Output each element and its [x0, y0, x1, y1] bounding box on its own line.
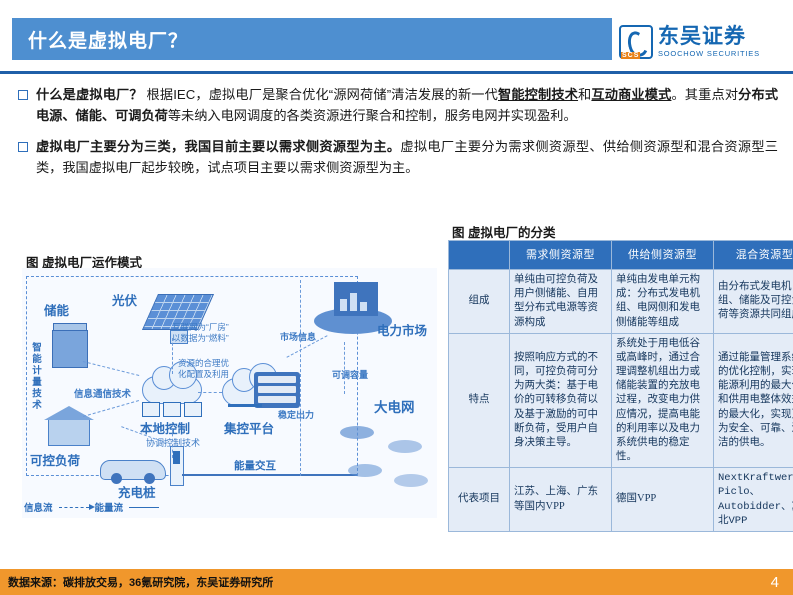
- bullet-item: 虚拟电厂主要分为三类，我国目前主要以需求侧资源型为主。虚拟电厂主要分为需求侧资源…: [18, 136, 778, 179]
- storage-battery-icon: [52, 330, 88, 368]
- label-stable-output: 稳定出力: [278, 408, 314, 421]
- table-row: 组成 单纯由可控负荷及用户侧储能、自用型分布式电源等资源构成 单纯由发电单元构成…: [449, 270, 793, 334]
- diagram-legend: 信息流 能量流: [24, 500, 159, 514]
- flow-line: [198, 392, 222, 393]
- cell-projects-supply: 德国VPP: [612, 468, 714, 532]
- market-chart-icon: [334, 282, 378, 316]
- label-storage: 储能: [44, 300, 69, 319]
- table-header-row: 需求侧资源型 供给侧资源型 混合资源型: [449, 241, 793, 270]
- local-servers-icon: [142, 402, 202, 417]
- table-col-empty: [449, 241, 510, 270]
- legend-info-flow-label: 信息流: [24, 500, 53, 514]
- label-power-market: 电力市场: [377, 320, 427, 339]
- grid-node-icon: [394, 474, 428, 487]
- label-adjustable-capacity: 可调容量: [332, 368, 368, 381]
- company-logo: SCS 东吴证券 SOOCHOW SECURITIES: [619, 22, 779, 62]
- label-local-control: 本地控制: [140, 418, 190, 437]
- grid-node-icon: [388, 440, 422, 453]
- cell-projects-demand: 江苏、上海、广东等国内VPP: [510, 468, 612, 532]
- row-header-features: 特点: [449, 333, 510, 468]
- cell-features-demand: 按照响应方式的不同，可控负荷可分为两大类：基于电价的可转移负荷以及基于激励的可中…: [510, 333, 612, 468]
- bullet-seg: 智能控制技术: [498, 87, 578, 102]
- table-col-supply-side: 供给侧资源型: [612, 241, 714, 270]
- bullet-square-icon: [18, 90, 28, 100]
- boundary-flow-line: [300, 280, 301, 476]
- bullet-seg: 和: [578, 87, 591, 102]
- label-controllable-load: 可控负荷: [30, 450, 80, 469]
- cell-composition-supply: 单纯由发电单元构成：分布式发电机组、电网侧和发电侧储能等组成: [612, 270, 714, 334]
- page-title: 什么是虚拟电厂？: [12, 26, 188, 53]
- header-divider: [0, 71, 793, 74]
- bullet-square-icon: [18, 142, 28, 152]
- legend-info-flow-icon: [59, 507, 89, 508]
- bullet-text: 什么是虚拟电厂？ 根据IEC，虚拟电厂是聚合优化“源网荷储”清洁发展的新一代智能…: [36, 84, 778, 127]
- flow-line: [344, 342, 345, 394]
- slide-footer: 数据来源：碳排放交易，36氪研究院，东吴证券研究所 4: [0, 569, 793, 595]
- vpp-operation-diagram: 光伏 储能 智能计量技术 可控负荷 本地控制 协调控制技术 集控平台 互联网为“…: [22, 268, 437, 518]
- bullet-list: 什么是虚拟电厂？ 根据IEC，虚拟电厂是聚合优化“源网荷储”清洁发展的新一代智能…: [18, 84, 778, 188]
- central-server-icon: [254, 372, 300, 408]
- flow-line: [172, 428, 173, 458]
- bullet-seg: 根据IEC，虚拟电厂是聚合优化“源网荷储”清洁发展的新一代: [143, 87, 498, 102]
- cell-features-hybrid: 通过能量管理系统的优化控制，实现能源利用的最大化和供用电整体效益的最大化，实现更…: [714, 333, 793, 468]
- grid-node-icon: [348, 464, 382, 477]
- table-col-demand-side: 需求侧资源型: [510, 241, 612, 270]
- slide-title-bar: 什么是虚拟电厂？: [12, 18, 612, 60]
- legend-energy-flow-label: 能量流: [95, 500, 124, 514]
- energy-interaction-line: [182, 474, 357, 476]
- row-header-composition: 组成: [449, 270, 510, 334]
- bullet-seg: 等未纳入电网调度的各类资源进行聚合和控制，服务电网并实现盈利。: [168, 108, 577, 123]
- label-energy-interaction: 能量交互: [234, 458, 276, 473]
- vpp-classification-table: 需求侧资源型 供给侧资源型 混合资源型 组成 单纯由可控负荷及用户侧储能、自用型…: [448, 240, 793, 532]
- label-market-info: 市场信息: [280, 330, 316, 343]
- label-smart-metering: 智能计量技术: [28, 342, 42, 411]
- label-pv: 光伏: [112, 290, 137, 309]
- label-charging-pile: 充电桩: [118, 482, 156, 501]
- grid-node-icon: [340, 426, 374, 439]
- note-resource: 资源的合理优 化配置及利用: [178, 358, 229, 381]
- label-central-platform: 集控平台: [224, 418, 274, 437]
- cell-composition-hybrid: 由分布式发电机组、储能及可控负荷等资源共同组成: [714, 270, 793, 334]
- label-ict: 信息通信技术: [74, 386, 131, 400]
- bullet-seg: 虚拟电厂主要分为三类，我国目前主要以需求侧资源型为主。: [36, 139, 400, 154]
- bullet-item: 什么是虚拟电厂？ 根据IEC，虚拟电厂是聚合优化“源网荷储”清洁发展的新一代智能…: [18, 84, 778, 127]
- label-grid: 大电网: [374, 396, 415, 416]
- bullet-seg: 。其重点对: [671, 87, 738, 102]
- soochow-logo-icon: SCS: [619, 25, 653, 59]
- table-row: 代表项目 江苏、上海、广东等国内VPP 德国VPP NextKraftwerke…: [449, 468, 793, 532]
- logo-english-name: SOOCHOW SECURITIES: [658, 50, 760, 58]
- legend-energy-flow-icon: [129, 507, 159, 508]
- table-row: 特点 按照响应方式的不同，可控负荷可分为两大类：基于电价的可转移负荷以及基于激励…: [449, 333, 793, 468]
- cell-features-supply: 系统处于用电低谷或高峰时，通过合理调整机组出力或储能装置的充放电过程，改变电力供…: [612, 333, 714, 468]
- figure-right-caption: 图 虚拟电厂的分类: [452, 222, 555, 241]
- bullet-seg: 什么是虚拟电厂？: [36, 87, 143, 102]
- logo-chinese-name: 东吴证券: [658, 26, 760, 47]
- cell-projects-hybrid: NextKraftwerke、Piclo、Autobidder、冀北VPP: [714, 468, 793, 532]
- cell-composition-demand: 单纯由可控负荷及用户侧储能、自用型分布式电源等资源构成: [510, 270, 612, 334]
- bullet-seg: 互动商业模式: [591, 87, 671, 102]
- flow-line: [172, 338, 173, 374]
- electric-vehicle-icon: [100, 460, 166, 480]
- logo-mark-text: SCS: [621, 52, 640, 59]
- note-internet: 互联网为“厂房” 以数据为“燃料”: [172, 322, 229, 345]
- footer-page-number: 4: [771, 574, 793, 591]
- server-base-icon: [228, 404, 262, 407]
- house-icon: [48, 418, 90, 446]
- bullet-text: 虚拟电厂主要分为三类，我国目前主要以需求侧资源型为主。虚拟电厂主要分为需求侧资源…: [36, 136, 778, 179]
- row-header-projects: 代表项目: [449, 468, 510, 532]
- table-col-hybrid: 混合资源型: [714, 241, 793, 270]
- footer-source: 数据来源：碳排放交易，36氪研究院，东吴证券研究所: [0, 574, 273, 590]
